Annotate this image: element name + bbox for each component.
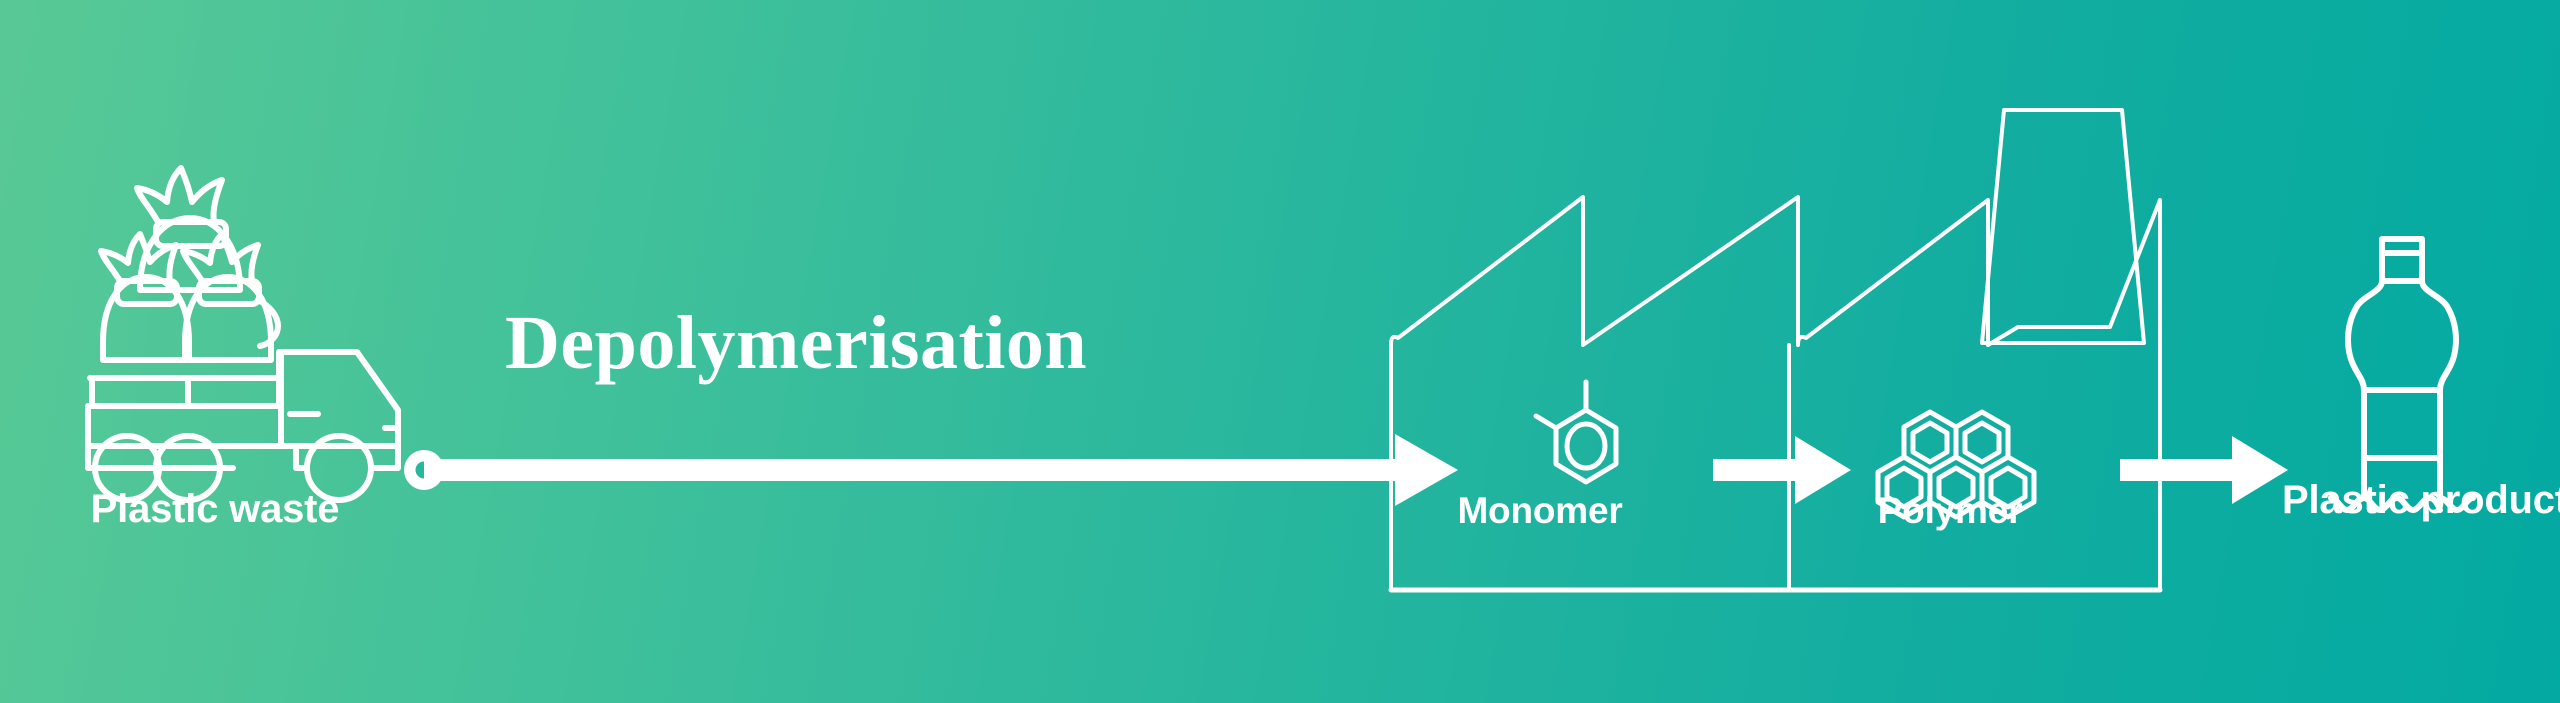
node-label-plastic-product: Plastic product: [2280, 478, 2560, 523]
bottle-body: [2331, 281, 2382, 510]
arrow-shaft: [2120, 459, 2242, 481]
diagram-canvas: Depolymerisation Plastic waste Monomer P…: [0, 0, 2560, 703]
node-label-plastic-waste: Plastic waste: [10, 487, 420, 532]
node-label-polymer: Polymer: [1790, 490, 2110, 531]
smokestack-icon: [1982, 110, 2144, 343]
process-title: Depolymerisation: [505, 300, 1087, 387]
diagram-line-art: [0, 0, 2560, 703]
connector-polymer-product: [2120, 436, 2288, 504]
node-label-monomer: Monomer: [1380, 490, 1700, 531]
plastic-bottle-icon: [2331, 239, 2473, 510]
waste-bag-right: [183, 234, 278, 360]
bottle-cap: [2382, 239, 2422, 281]
main-arrow-shaft: [424, 459, 1399, 481]
waste-bag-back: [137, 168, 240, 290]
waste-bag-left: [101, 234, 189, 360]
connector-main-arrow: [404, 434, 1458, 506]
garbage-truck-icon: [88, 168, 398, 500]
truck-cab: [88, 352, 398, 468]
bottle-body-right: [2422, 281, 2473, 510]
arrow-shaft: [1713, 459, 1805, 481]
benzene-ring-icon: [1536, 382, 1616, 482]
